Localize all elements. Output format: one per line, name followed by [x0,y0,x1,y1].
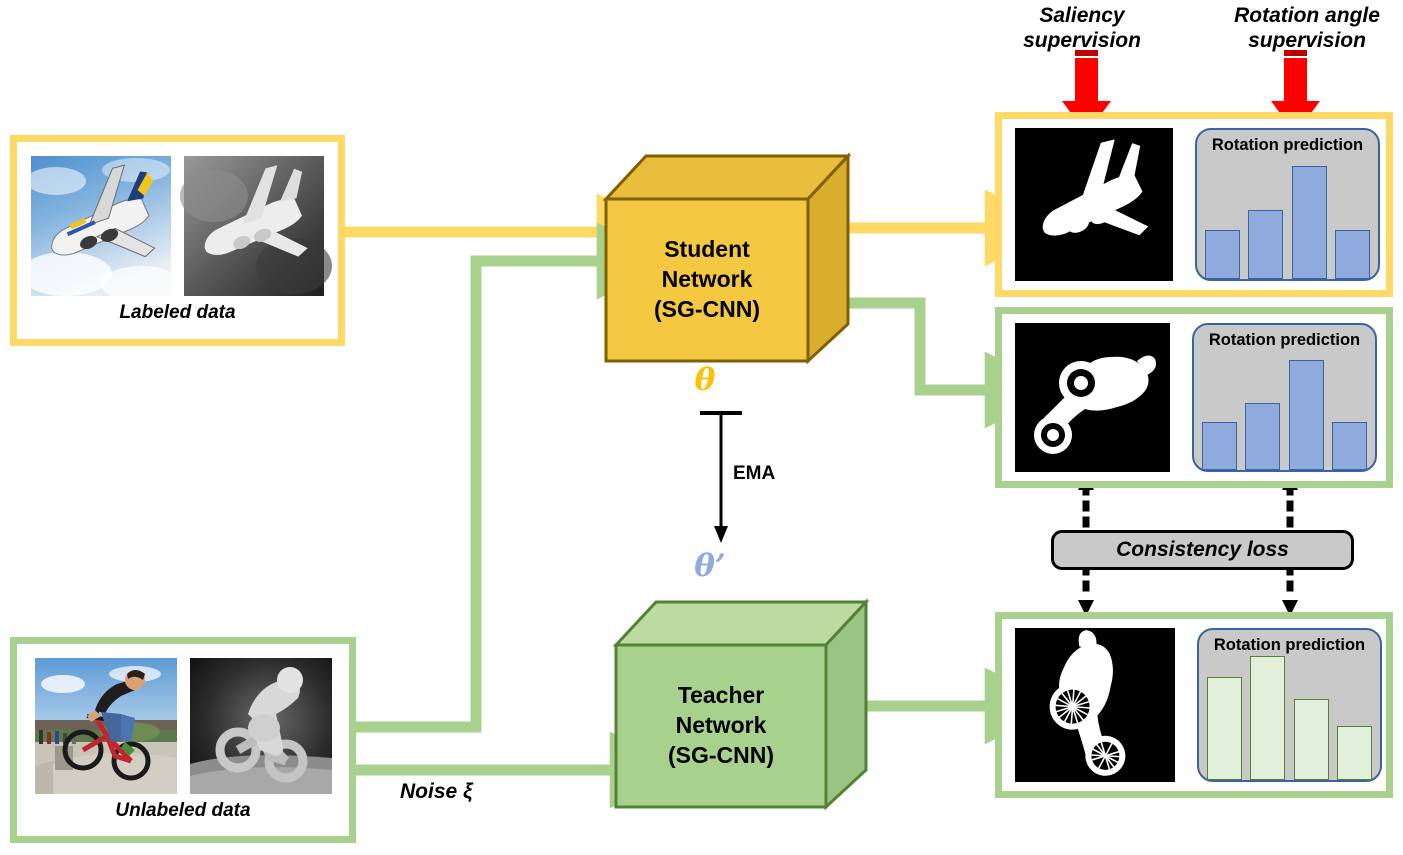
student-network-label: Student Network (SG-CNN) [606,199,808,361]
labeled-data-frame: Labeled data [10,135,345,346]
unlabeled-data-caption: Unlabeled data [17,800,349,822]
teacher-label-line2: Network [676,711,767,741]
bmx-rider-saliency-gray [190,658,332,794]
rotation-prediction-chart-1: Rotation prediction [1195,128,1380,281]
rotation-bar [1248,210,1283,279]
teacher-label-line3: (SG-CNN) [668,741,774,771]
teacher-label-line1: Teacher [678,681,765,711]
rotation-bar [1245,403,1280,470]
rotation-bars-2 [1202,325,1367,470]
rotation-bars-3 [1207,630,1372,780]
student-network-node[interactable]: Student Network (SG-CNN) [603,152,848,364]
rotation-bar [1207,677,1242,781]
student-labeled-output-panel: Rotation prediction [995,112,1393,297]
teacher-unlabeled-output-panel: Rotation prediction [995,612,1393,798]
ema-label: EMA [733,462,803,486]
teacher-theta-symbol: θ’ [665,548,755,584]
rotation-prediction-chart-3: Rotation prediction [1197,628,1382,782]
rotation-prediction-chart-2: Rotation prediction [1192,323,1377,472]
bmx-rider-photo [35,658,177,794]
labeled-data-images [17,142,338,296]
bmx-saliency-mask-rotated [1015,628,1175,782]
rotation-bar [1335,230,1370,279]
rotation-bars-1 [1205,130,1370,279]
student-unlabeled-output-panel: Rotation prediction [995,307,1393,488]
airplane-saliency-mask [1015,128,1173,281]
rotation-bar [1205,230,1240,279]
student-label-line2: Network [662,265,753,295]
consistency-loss-box: Consistency loss [1051,530,1354,570]
airplane-saliency-gray [184,156,324,296]
edge-unlabeled-to-student [345,261,600,727]
teacher-network-label: Teacher Network (SG-CNN) [616,645,826,807]
edge-student-to-unlabeled-output [846,303,988,390]
rotation-bar [1337,726,1372,780]
bmx-saliency-mask [1015,323,1170,472]
rotation-bar [1332,422,1367,470]
rotation-bar [1289,360,1324,470]
labeled-data-caption: Labeled data [17,302,338,324]
student-theta-symbol: θ [660,362,750,398]
rotation-bar [1294,699,1329,780]
airplane-photo [31,156,171,296]
student-label-line3: (SG-CNN) [654,295,760,325]
student-label-line1: Student [664,235,750,265]
unlabeled-data-frame: Unlabeled data [10,637,356,843]
rotation-bar [1202,422,1237,470]
noise-label: Noise ξ [400,780,540,805]
unlabeled-data-images [17,644,349,794]
teacher-network-node[interactable]: Teacher Network (SG-CNN) [613,598,866,810]
rotation-bar [1250,656,1285,781]
rotation-bar [1292,166,1327,279]
